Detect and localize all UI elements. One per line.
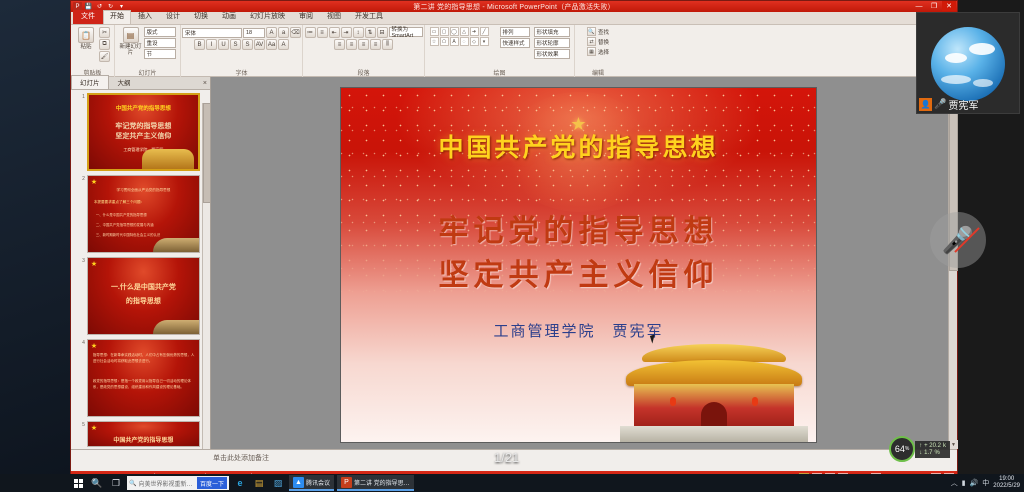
- restore-button[interactable]: ❐: [927, 1, 941, 11]
- quick-styles-button[interactable]: 快速样式: [500, 38, 530, 48]
- cloud-shape: [945, 53, 967, 63]
- clock-date: 2022/5/29: [993, 483, 1020, 490]
- tab-slides[interactable]: 幻灯片: [71, 75, 109, 89]
- thumbnail-scrollbar[interactable]: [202, 103, 210, 449]
- powerpoint-window: P 💾 ↺ ↻ ▾ 第二讲 党的指导思想 - Microsoft PowerPo…: [70, 0, 958, 474]
- start-button[interactable]: [70, 475, 86, 491]
- powerpoint-icon: P: [341, 477, 352, 488]
- ribbon-tab-view[interactable]: 视图: [320, 10, 348, 24]
- increase-indent-icon[interactable]: ⇥: [341, 27, 352, 38]
- taskbar-item-label: 腾讯会议: [306, 478, 330, 487]
- editing-group-label: 编辑: [575, 68, 621, 77]
- slide-thumbnail-list[interactable]: 1 中国共产党的指导思想 牢记党的指导思想 坚定共产主义信仰 工商管理学院 贾宪…: [71, 90, 210, 449]
- thumb3-line1: 一.什么是中国共产党: [88, 282, 199, 292]
- party-emblem-icon: ★: [91, 178, 97, 186]
- ribbon-group-paragraph: ≔ ≡ ⇤ ⇥ ↕ ⇅ ⊟ 转换为 SmartArt ≡ ≡ ≡ ≡ ⫼ 段落: [303, 25, 425, 77]
- convert-smartart-button[interactable]: 转换为 SmartArt: [389, 27, 423, 37]
- party-emblem-icon: ★: [91, 260, 97, 268]
- file-explorer-icon[interactable]: ▤: [251, 475, 267, 491]
- thumb3-line2: 的指导思想: [88, 296, 199, 306]
- decrease-font-size-icon[interactable]: a: [278, 27, 289, 38]
- ribbon-group-font: 宋体 18 A a ⌫ B I U S S AV Aa A 字体: [181, 25, 303, 77]
- shape-triangle-icon[interactable]: △: [460, 27, 469, 36]
- slides-panel-tabs: 幻灯片 大纲 ×: [71, 77, 210, 90]
- gate-lower-roof: [626, 360, 802, 386]
- slide-canvas-area[interactable]: ★ 中国共产党的指导思想 牢记党的指导思想 坚定共产主义信仰 工商管理学院 贾宪…: [211, 77, 957, 449]
- ribbon-body: 📋 粘贴 ✂ ⧉ 🖌 剪贴板 ▤ 新建幻灯片: [71, 25, 957, 77]
- slide-title-text[interactable]: 中国共产党的指导思想: [341, 128, 816, 164]
- shape-textbox-icon[interactable]: A: [450, 37, 459, 46]
- paragraph-group-label: 段落: [303, 68, 424, 77]
- search-input[interactable]: 🔍 向美世界影视重新… 百度一下: [127, 476, 229, 490]
- cloud-shape: [969, 43, 995, 55]
- party-emblem-icon: ★: [91, 342, 97, 350]
- gate-base: [620, 426, 808, 442]
- shape-outline-button[interactable]: 形状轮廓: [534, 38, 570, 48]
- participant-video-tile[interactable]: 👤 🎤 贾宪军: [916, 12, 1020, 114]
- ribbon-tab-slideshow[interactable]: 幻灯片放映: [243, 10, 292, 24]
- participant-name: 贾宪军: [948, 97, 978, 112]
- slide-thumbnail-5[interactable]: ★ 中国共产党的指导思想: [87, 421, 200, 447]
- format-painter-icon[interactable]: 🖌: [99, 51, 110, 62]
- shape-effects-button[interactable]: 形状效果: [534, 49, 570, 59]
- thumb2-wall-icon: [153, 238, 199, 252]
- thumbnail-number: 5: [79, 421, 85, 447]
- list-item[interactable]: 5 ★ 中国共产党的指导思想: [79, 421, 200, 447]
- tiananmen-gate-image: [614, 322, 814, 442]
- slide-main-line2: 坚定共产主义信仰: [341, 254, 816, 298]
- paste-label: 粘贴: [80, 44, 91, 50]
- arrange-button[interactable]: 排列: [500, 27, 530, 37]
- gate-door: [701, 402, 727, 428]
- shape-fill-button[interactable]: 形状填充: [534, 27, 570, 37]
- baidu-search-button[interactable]: 百度一下: [197, 477, 227, 489]
- taskbar-item-tencent-meeting[interactable]: ▲ 腾讯会议: [289, 475, 334, 491]
- participant-name-bar: 👤 🎤 贾宪军: [917, 97, 1019, 112]
- party-emblem-icon: ★: [91, 424, 97, 432]
- ribbon-tab-bar: 文件 开始 插入 设计 切换 动画 幻灯片放映 审阅 视图 开发工具 ∧: [71, 12, 957, 25]
- thumbnail-number: 3: [79, 257, 85, 335]
- thumb2-title: 学习贯彻全面从严治党的指导思想: [88, 188, 199, 193]
- search-glass-icon: 🔍: [129, 480, 136, 487]
- shape-more-icon[interactable]: ▾: [480, 37, 489, 46]
- thumb1-line1: 牢记党的指导思想: [89, 122, 198, 132]
- font-size-combo[interactable]: 18: [243, 28, 265, 38]
- justify-icon[interactable]: ≡: [370, 39, 381, 50]
- taskbar-item-label: 第二讲 党的指导思…: [354, 478, 410, 487]
- shape-rect-icon[interactable]: ▭: [430, 27, 439, 36]
- select-icon: ▦: [587, 47, 596, 56]
- increase-font-size-icon[interactable]: A: [266, 27, 277, 38]
- upload-arrow-icon: ↑: [919, 443, 922, 449]
- screen-root: P 💾 ↺ ↻ ▾ 第二讲 党的指导思想 - Microsoft PowerPo…: [0, 0, 1024, 492]
- thumbnail-scrollbar-thumb[interactable]: [203, 103, 210, 203]
- thumbnail-number: 4: [79, 339, 85, 417]
- tab-outline[interactable]: 大纲: [109, 75, 140, 89]
- select-button[interactable]: ▦ 选择: [587, 47, 609, 56]
- network-upload-value: + 20.2: [924, 443, 941, 449]
- shape-diamond-icon[interactable]: ◇: [470, 37, 479, 46]
- replace-button[interactable]: ⇄ 替换: [587, 37, 609, 46]
- character-spacing-icon[interactable]: AV: [254, 39, 265, 50]
- bold-icon[interactable]: B: [194, 39, 205, 50]
- find-button[interactable]: 🔍 查找: [587, 27, 609, 36]
- new-slide-button[interactable]: ▤ 新建幻灯片: [120, 27, 142, 56]
- slide-thumbnail-2[interactable]: ★ 学习贯彻全面从严治党的指导思想 本提要要求重点了解三个问题： 一、什么是中国…: [87, 175, 200, 253]
- network-download-line: ↓ 1.7 %: [919, 450, 946, 456]
- font-name-combo[interactable]: 宋体: [182, 28, 242, 38]
- new-slide-icon: ▤: [123, 27, 139, 43]
- page-indicator: 1/21: [494, 450, 519, 465]
- minimize-button[interactable]: —: [912, 1, 926, 11]
- clock-time: 19:00: [993, 476, 1020, 483]
- edge-icon[interactable]: e: [232, 475, 248, 491]
- search-icon[interactable]: 🔍: [89, 475, 105, 491]
- cpu-usage-ring: 64%: [889, 436, 915, 462]
- gate-lantern-right: [752, 397, 758, 406]
- ribbon-tab-review[interactable]: 审阅: [292, 10, 320, 24]
- thumb4-para2: 政党的指导思想：是指一个政党用以指导自己一切活动的理论体系，是政党的思想建设、组…: [93, 378, 195, 390]
- ribbon-group-slides: ▤ 新建幻灯片 版式 重设 节 幻灯片: [115, 25, 181, 77]
- slide-thumbnail-4[interactable]: ★ 指导思想：在新革命实践活动时，人们中占有压倒优势的思想，人进行社会活动时将获…: [87, 339, 200, 417]
- close-button[interactable]: ✕: [942, 1, 956, 11]
- volume-icon[interactable]: 🔊: [970, 479, 979, 487]
- network-download-value: 1.7: [924, 450, 932, 456]
- windows-logo-icon: [74, 479, 83, 488]
- slide-thumbnail-3[interactable]: ★ 一.什么是中国共产党 的指导思想: [87, 257, 200, 335]
- close-panel-icon[interactable]: ×: [203, 80, 207, 87]
- network-stats: ↑ + 20.2 k ↓ 1.7 %: [915, 441, 950, 458]
- shape-star-icon[interactable]: ☆: [430, 37, 439, 46]
- replace-label: 替换: [598, 38, 609, 46]
- mic-slash: [954, 227, 979, 252]
- performance-overlay: 64% ↑ + 20.2 k ↓ 1.7 %: [889, 436, 950, 462]
- thumb2-bullet-3: 三、新时期新时代中国特色社会主义的认识: [96, 232, 160, 237]
- numbering-icon[interactable]: ≡: [317, 27, 328, 38]
- thumb1-title: 中国共产党的指导思想: [89, 104, 198, 112]
- desktop-background-strip: [0, 0, 70, 474]
- window-controls: — ❐ ✕: [912, 1, 956, 11]
- search-input-placeholder: 向美世界影视重新…: [138, 479, 195, 488]
- list-item[interactable]: 3 ★ 一.什么是中国共产党 的指导思想: [79, 257, 200, 335]
- align-left-icon[interactable]: ≡: [334, 39, 345, 50]
- mic-muted-icon: 🎤: [942, 225, 974, 256]
- align-text-icon[interactable]: ⊟: [377, 27, 388, 38]
- shape-arrow-icon[interactable]: ➜: [470, 27, 479, 36]
- new-slide-label: 新建幻灯片: [120, 44, 142, 56]
- network-icon[interactable]: ▮: [962, 479, 966, 487]
- font-group-label: 字体: [181, 68, 302, 77]
- shape-rounded-icon[interactable]: ▢: [440, 27, 449, 36]
- underline-icon[interactable]: U: [218, 39, 229, 50]
- align-center-icon[interactable]: ≡: [346, 39, 357, 50]
- thumb2-intro: 本提要要求重点了解三个问题：: [94, 200, 144, 205]
- ribbon-group-editing: 🔍 查找 ⇄ 替换 ▦ 选择 编辑: [575, 25, 621, 77]
- cut-icon[interactable]: ✂: [99, 27, 110, 38]
- thumbnail-number: 1: [79, 93, 85, 171]
- line-spacing-icon[interactable]: ↕: [353, 27, 364, 38]
- align-right-icon[interactable]: ≡: [358, 39, 369, 50]
- mute-toggle-button[interactable]: 🎤: [930, 212, 986, 268]
- system-tray: ︿ ▮ 🔊 中 19:00 2022/5/29: [951, 476, 1024, 490]
- shapes-gallery[interactable]: ▭ ▢ ◯ △ ➜ ╱ ☆ ⬠ A ◌ ◇ ▾: [430, 27, 496, 46]
- list-item[interactable]: 4 ★ 指导思想：在新革命实践活动时，人们中占有压倒优势的思想，人进行社会活动时…: [79, 339, 200, 417]
- thumb1-line2: 坚定共产主义信仰: [89, 132, 198, 142]
- copy-icon[interactable]: ⧉: [99, 39, 110, 50]
- slide-main-line1: 牢记党的指导思想: [341, 210, 816, 254]
- drawing-group-label: 绘图: [425, 68, 574, 77]
- find-icon: 🔍: [587, 27, 596, 36]
- change-case-icon[interactable]: Aa: [266, 39, 277, 50]
- text-direction-icon[interactable]: ⇅: [365, 27, 376, 38]
- windows-taskbar: 🔍 ❐ 🔍 向美世界影视重新… 百度一下 e ▤ ▨ ▲ 腾讯会议 P 第二讲 …: [0, 474, 1024, 492]
- section-button[interactable]: 节: [144, 49, 176, 59]
- gate-lantern-left: [670, 397, 676, 406]
- clock[interactable]: 19:00 2022/5/29: [993, 476, 1020, 490]
- taskbar-item-powerpoint[interactable]: P 第二讲 党的指导思…: [337, 475, 414, 491]
- ribbon-tab-home[interactable]: 开始: [103, 10, 131, 24]
- italic-icon[interactable]: I: [206, 39, 217, 50]
- paste-icon: 📋: [78, 27, 94, 43]
- mic-icon[interactable]: 🎤: [934, 99, 946, 110]
- task-view-icon[interactable]: ❐: [108, 475, 124, 491]
- work-area: 幻灯片 大纲 × 1 中国共产党的指导思想 牢记党的指导思想 坚定共产主义信仰 …: [71, 77, 957, 449]
- cpu-usage-unit: %: [905, 446, 909, 452]
- replace-icon: ⇄: [587, 37, 596, 46]
- clear-formatting-icon[interactable]: ⌫: [290, 27, 301, 38]
- shape-line-icon[interactable]: ╱: [480, 27, 489, 36]
- cloud-shape: [973, 79, 993, 87]
- decrease-indent-icon[interactable]: ⇤: [329, 27, 340, 38]
- chevron-up-icon[interactable]: ︿: [951, 478, 958, 488]
- reset-button[interactable]: 重设: [144, 38, 176, 48]
- network-download-unit: %: [934, 450, 939, 456]
- shadow-icon[interactable]: S: [242, 39, 253, 50]
- slides-panel: 幻灯片 大纲 × 1 中国共产党的指导思想 牢记党的指导思想 坚定共产主义信仰 …: [71, 77, 211, 449]
- layout-button[interactable]: 版式: [144, 27, 176, 37]
- bullets-icon[interactable]: ≔: [305, 27, 316, 38]
- shape-pentagon-icon[interactable]: ⬠: [440, 37, 449, 46]
- ribbon-group-clipboard: 📋 粘贴 ✂ ⧉ 🖌 剪贴板: [71, 25, 115, 77]
- find-label: 查找: [598, 28, 609, 36]
- current-slide[interactable]: ★ 中国共产党的指导思想 牢记党的指导思想 坚定共产主义信仰 工商管理学院 贾宪…: [340, 87, 817, 443]
- tencent-meeting-icon: ▲: [293, 477, 304, 488]
- photos-icon[interactable]: ▨: [270, 475, 286, 491]
- select-label: 选择: [598, 48, 609, 56]
- participant-avatar: [931, 27, 1005, 101]
- thumb1-gate-icon: [142, 149, 194, 169]
- strikethrough-icon[interactable]: S: [230, 39, 241, 50]
- network-upload-unit: k: [943, 443, 946, 449]
- shape-callout-icon[interactable]: ◌: [460, 37, 469, 46]
- paste-button[interactable]: 📋 粘贴: [75, 27, 97, 50]
- slide-thumbnail-1[interactable]: 中国共产党的指导思想 牢记党的指导思想 坚定共产主义信仰 工商管理学院 贾宪军: [87, 93, 200, 171]
- ribbon-tab-transitions[interactable]: 切换: [187, 10, 215, 24]
- ribbon-tab-animations[interactable]: 动画: [215, 10, 243, 24]
- thumb2-bullet-2: 二、中国共产党指导思想的发展与内涵: [96, 222, 154, 227]
- ribbon-group-drawing: ▭ ▢ ◯ △ ➜ ╱ ☆ ⬠ A ◌ ◇ ▾ 排列: [425, 25, 575, 77]
- list-item[interactable]: 2 ★ 学习贯彻全面从严治党的指导思想 本提要要求重点了解三个问题： 一、什么是…: [79, 175, 200, 253]
- person-icon: 👤: [919, 98, 932, 111]
- ribbon-tab-insert[interactable]: 插入: [131, 10, 159, 24]
- ime-icon[interactable]: 中: [982, 478, 989, 488]
- ribbon-tab-file[interactable]: 文件: [73, 10, 103, 24]
- network-upload-line: ↑ + 20.2 k: [919, 443, 946, 449]
- ribbon-tab-developer[interactable]: 开发工具: [348, 10, 390, 24]
- list-item[interactable]: 1 中国共产党的指导思想 牢记党的指导思想 坚定共产主义信仰 工商管理学院 贾宪…: [79, 93, 200, 171]
- scroll-down-icon[interactable]: ▼: [949, 440, 958, 449]
- cpu-usage-value: 64: [895, 444, 905, 454]
- cloud-shape: [941, 75, 971, 84]
- ribbon-tab-design[interactable]: 设计: [159, 10, 187, 24]
- thumbnail-number: 2: [79, 175, 85, 253]
- shape-oval-icon[interactable]: ◯: [450, 27, 459, 36]
- font-color-icon[interactable]: A: [278, 39, 289, 50]
- thumb5-title: 中国共产党的指导思想: [88, 435, 199, 444]
- columns-icon[interactable]: ⫼: [382, 39, 393, 50]
- slide-main-text[interactable]: 牢记党的指导思想 坚定共产主义信仰: [341, 210, 816, 298]
- thumb4-para1: 指导思想：在新革命实践活动时，人们中占有压倒优势的思想，人进行社会活动时将获取此…: [93, 352, 195, 364]
- download-arrow-icon: ↓: [919, 450, 922, 456]
- thumb2-bullet-1: 一、什么是中国共产党的指导思想: [96, 212, 147, 217]
- thumb3-wall-icon: [153, 320, 199, 334]
